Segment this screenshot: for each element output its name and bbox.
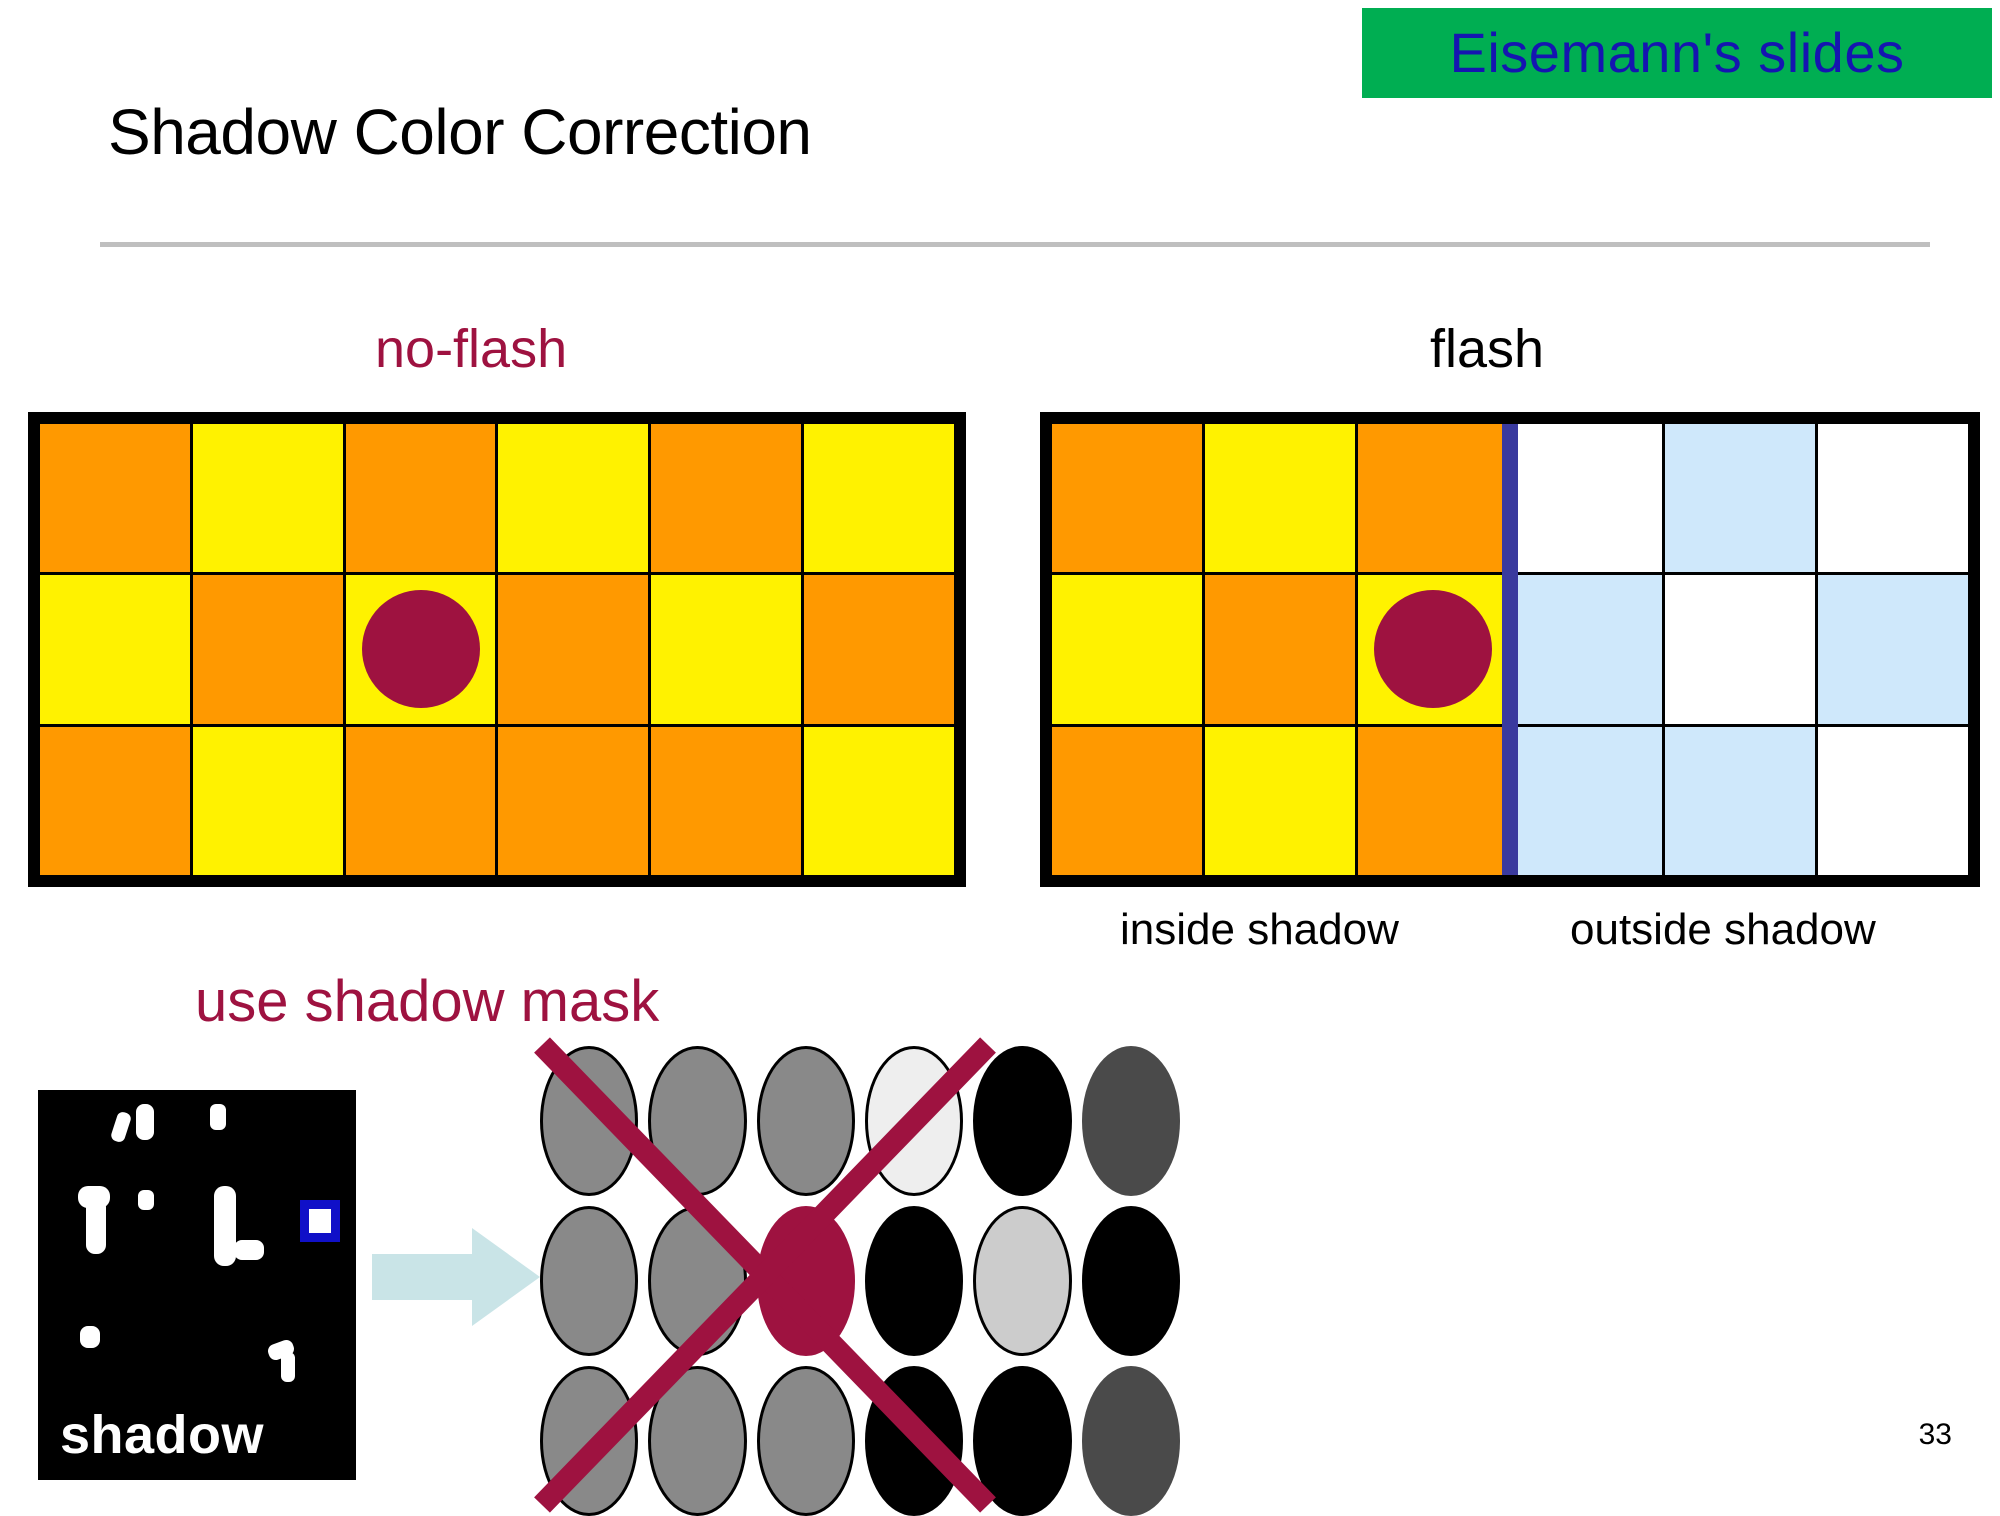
grid-cell — [1052, 575, 1202, 723]
mask-blob — [86, 1198, 106, 1254]
grid-cell — [651, 575, 801, 723]
mask-blob — [214, 1186, 236, 1266]
pixel-circle — [757, 1206, 855, 1356]
grid-cell — [1358, 727, 1508, 875]
no-flash-pixel-grid — [28, 412, 966, 887]
pixel-circle — [1082, 1046, 1180, 1196]
grid-cell — [1818, 424, 1968, 572]
grid-cell — [1818, 575, 1968, 723]
grid-cell — [1512, 727, 1662, 875]
pixel-circle — [757, 1366, 855, 1516]
grid-cell — [804, 727, 954, 875]
mask-blob — [281, 1352, 295, 1382]
pixel-circle — [973, 1206, 1071, 1356]
shadow-boundary-divider — [1502, 424, 1518, 875]
grid-cell — [193, 424, 343, 572]
right-arrow-icon — [372, 1222, 542, 1332]
grid-cell — [804, 424, 954, 572]
caption-flash: flash — [1430, 318, 1544, 380]
pixel-circle — [757, 1046, 855, 1196]
mask-blob — [80, 1326, 100, 1348]
pixel-circle — [865, 1046, 963, 1196]
grid-cell — [1512, 424, 1662, 572]
shadow-mask-thumbnail: shadow — [38, 1090, 356, 1480]
attribution-banner: Eisemann's slides — [1362, 8, 1992, 98]
grid-cell — [346, 727, 496, 875]
grid-cell — [1358, 575, 1508, 723]
caption-inside-shadow: inside shadow — [1120, 905, 1399, 955]
page-number: 33 — [1919, 1418, 1952, 1452]
grid-cell — [1512, 575, 1662, 723]
pixel-circle-grid — [540, 1046, 1180, 1516]
grid-cell — [498, 727, 648, 875]
pixel-circle — [648, 1046, 746, 1196]
grid-cell — [1358, 424, 1508, 572]
grid-cell — [346, 424, 496, 572]
grid-cell — [193, 575, 343, 723]
grid-cell — [1205, 424, 1355, 572]
grid-cell — [1052, 727, 1202, 875]
slide-canvas: Eisemann's slides Shadow Color Correctio… — [0, 0, 2000, 1500]
grid-cell — [651, 424, 801, 572]
grid-cell — [651, 727, 801, 875]
flash-grid-cells — [1052, 424, 1968, 875]
pixel-circle — [1082, 1206, 1180, 1356]
mask-blob — [210, 1104, 226, 1130]
grid-cell — [1665, 727, 1815, 875]
caption-outside-shadow: outside shadow — [1570, 905, 1876, 955]
grid-cell — [498, 575, 648, 723]
caption-no-flash: no-flash — [375, 318, 567, 380]
title-divider-rule — [100, 242, 1930, 247]
grid-cell — [1665, 424, 1815, 572]
grid-cell — [498, 424, 648, 572]
page-title: Shadow Color Correction — [108, 95, 812, 169]
sample-pixel-dot — [362, 590, 480, 708]
grid-cell — [193, 727, 343, 875]
pixel-circle — [648, 1206, 746, 1356]
caption-use-shadow-mask: use shadow mask — [195, 968, 659, 1035]
pixel-circle — [540, 1206, 638, 1356]
mask-blob — [136, 1104, 154, 1140]
pixel-circle — [1082, 1366, 1180, 1516]
pixel-circle — [540, 1046, 638, 1196]
grid-cell — [804, 575, 954, 723]
pixel-circle — [540, 1366, 638, 1516]
pixel-circle — [648, 1366, 746, 1516]
grid-cell — [1052, 424, 1202, 572]
mask-label: shadow — [60, 1404, 264, 1466]
grid-cell — [346, 575, 496, 723]
mask-selection-marker — [300, 1200, 340, 1242]
sample-pixel-dot — [1374, 590, 1492, 708]
grid-cell — [40, 424, 190, 572]
pixel-circle — [865, 1206, 963, 1356]
flash-pixel-grid — [1040, 412, 1980, 887]
grid-cell — [1205, 575, 1355, 723]
grid-cell — [1205, 727, 1355, 875]
mask-blob — [234, 1240, 264, 1260]
pixel-circle — [865, 1366, 963, 1516]
attribution-label: Eisemann's slides — [1450, 25, 1905, 81]
mask-blob — [138, 1190, 154, 1210]
pixel-circle — [973, 1046, 1071, 1196]
mask-blob — [110, 1111, 133, 1144]
grid-cell — [1818, 727, 1968, 875]
no-flash-grid-cells — [40, 424, 954, 875]
grid-cell — [40, 727, 190, 875]
grid-cell — [1665, 575, 1815, 723]
pixel-circle — [973, 1366, 1071, 1516]
grid-cell — [40, 575, 190, 723]
